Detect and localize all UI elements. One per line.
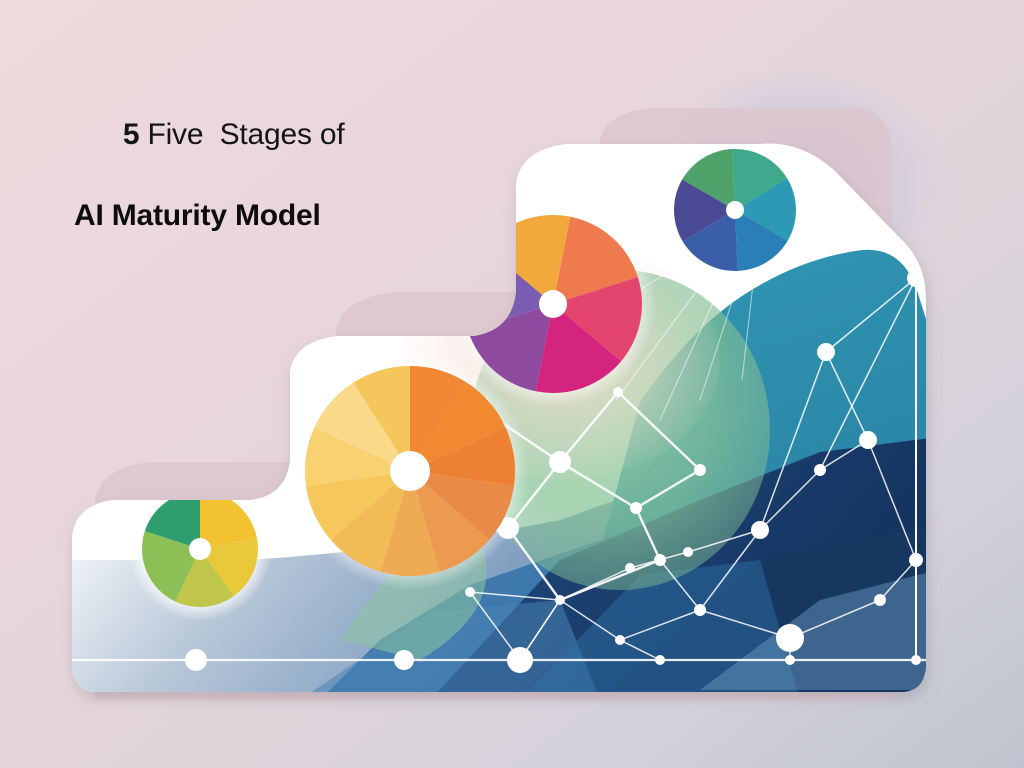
pie-stage-4 <box>660 135 810 285</box>
infographic-canvas: 5 Five Stages of AI Maturity Model <box>0 0 1024 768</box>
pie-stage-3 <box>450 201 656 407</box>
page-title: 5 Five Stages of AI Maturity Model <box>74 78 345 236</box>
pie-center-hole <box>726 201 744 219</box>
pie-center-hole <box>539 290 567 318</box>
title-line-1: 5 Five Stages of <box>74 78 345 193</box>
title-line-2: AI Maturity Model <box>74 197 345 235</box>
title-lead-number: 5 <box>123 118 140 151</box>
title-line-1-rest: Five Stages of <box>139 118 344 151</box>
pie-center-hole <box>390 451 430 491</box>
pie-center-hole <box>189 538 211 560</box>
pie-stage-1 <box>128 477 272 621</box>
